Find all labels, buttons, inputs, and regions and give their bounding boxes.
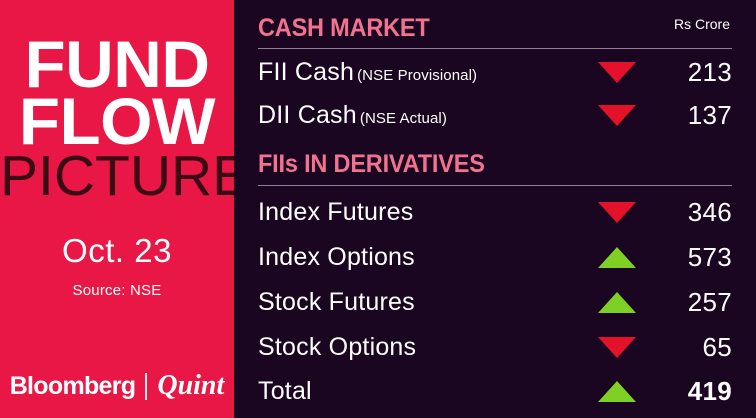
row-value: 65 — [654, 332, 732, 363]
section-header-cash-market: CASH MARKET — [258, 14, 732, 43]
triangle-down-icon — [598, 105, 636, 126]
headline-line-picture: PICTURE — [0, 152, 234, 201]
logo-bloomberg-text: Bloomberg — [10, 372, 136, 401]
bloombergquint-logo: Bloomberg Quint — [0, 370, 234, 402]
triangle-down-icon — [598, 202, 636, 223]
row-value: 257 — [654, 287, 732, 318]
left-red-panel: FUND FLOW PICTURE Oct. 23 Source: NSE Bl… — [0, 0, 234, 418]
direction-indicator-cell — [580, 202, 654, 223]
row-label-cell: Stock Futures — [258, 288, 580, 317]
table-row[interactable]: Index Futures 346 — [258, 195, 732, 229]
row-label-main: Index Futures — [258, 198, 413, 226]
data-panel: CASH MARKET Rs Crore FII Cash(NSE Provis… — [234, 0, 756, 418]
headline-block: FUND FLOW PICTURE — [0, 36, 234, 201]
direction-indicator-cell — [580, 247, 654, 268]
triangle-down-icon — [598, 62, 636, 83]
logo-divider — [145, 373, 147, 400]
row-value: 137 — [654, 100, 732, 131]
table-row[interactable]: FII Cash(NSE Provisional) 213 — [258, 55, 732, 89]
section-title-fiis-derivatives: FIIs IN DERIVATIVES — [258, 150, 485, 179]
row-value: 573 — [654, 242, 732, 273]
direction-indicator-cell — [580, 381, 654, 402]
fund-flow-infographic: FUND FLOW PICTURE Oct. 23 Source: NSE Bl… — [0, 0, 756, 418]
section-rule-fiis-derivatives — [258, 185, 732, 186]
row-value: 213 — [654, 57, 732, 88]
table-row[interactable]: DII Cash(NSE Actual) 137 — [258, 98, 732, 132]
row-label-main: Index Options — [258, 243, 415, 271]
row-label-main: DII Cash — [258, 101, 357, 129]
section-title-cash-market: CASH MARKET — [258, 14, 430, 43]
triangle-up-icon — [598, 381, 636, 402]
row-label-main: Total — [258, 377, 312, 405]
report-date: Oct. 23 — [0, 232, 234, 270]
triangle-down-icon — [598, 337, 636, 358]
row-label-cell: Total — [258, 377, 580, 406]
row-value: 346 — [654, 197, 732, 228]
row-label-main: FII Cash — [258, 58, 354, 86]
triangle-up-icon — [598, 247, 636, 268]
row-label-sub: (NSE Provisional) — [357, 67, 477, 84]
row-label-cell: Stock Options — [258, 333, 580, 362]
row-label-cell: FII Cash(NSE Provisional) — [258, 58, 580, 87]
unit-label: Rs Crore — [674, 16, 730, 32]
row-label-main: Stock Futures — [258, 288, 415, 316]
row-label-cell: DII Cash(NSE Actual) — [258, 101, 580, 130]
direction-indicator-cell — [580, 62, 654, 83]
table-row[interactable]: Index Options 573 — [258, 240, 732, 274]
direction-indicator-cell — [580, 105, 654, 126]
logo-quint-text: Quint — [157, 370, 224, 402]
section-rule-cash-market — [258, 48, 732, 49]
direction-indicator-cell — [580, 337, 654, 358]
row-label-main: Stock Options — [258, 333, 416, 361]
triangle-up-icon — [598, 292, 636, 313]
table-row[interactable]: Total 419 — [258, 374, 732, 408]
row-value-total: 419 — [654, 376, 732, 407]
headline-line-flow: FLOW — [0, 93, 236, 150]
section-header-fiis-derivatives: FIIs IN DERIVATIVES — [258, 150, 732, 179]
table-row[interactable]: Stock Options 65 — [258, 330, 732, 364]
table-row[interactable]: Stock Futures 257 — [258, 285, 732, 319]
row-label-cell: Index Options — [258, 243, 580, 272]
direction-indicator-cell — [580, 292, 654, 313]
row-label-cell: Index Futures — [258, 198, 580, 227]
source-attribution: Source: NSE — [0, 282, 234, 299]
row-label-sub: (NSE Actual) — [360, 110, 447, 127]
